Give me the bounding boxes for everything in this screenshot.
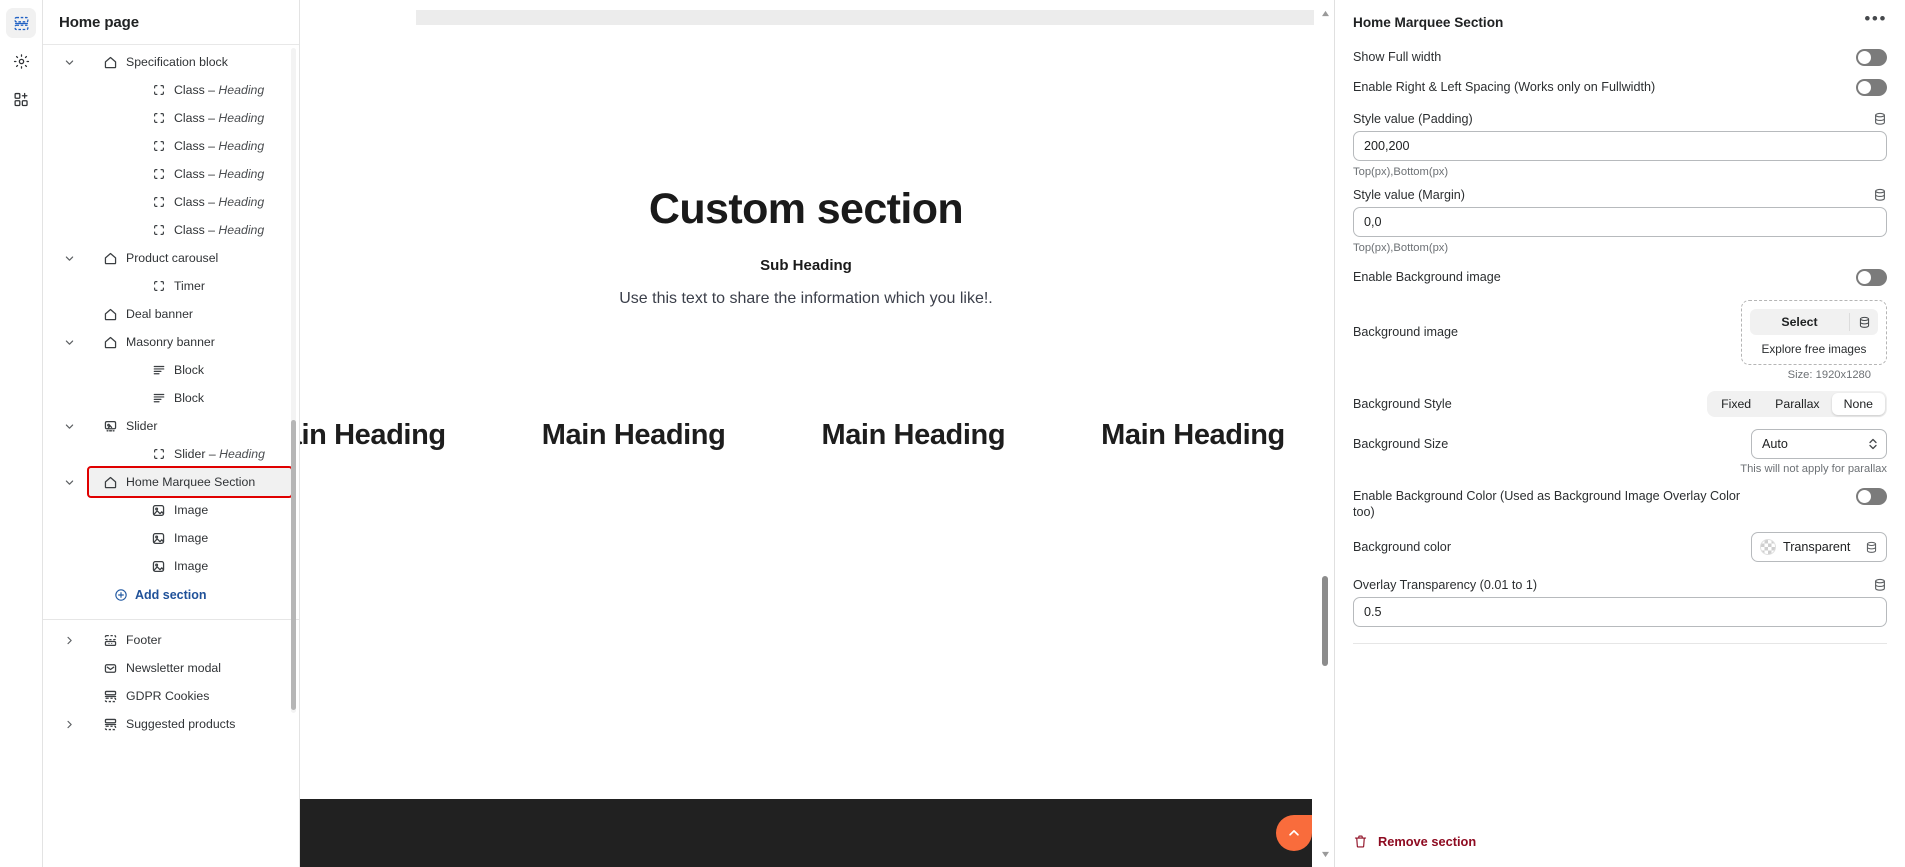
sidebar-item-label: Newsletter modal <box>126 661 221 675</box>
block-frame-icon <box>150 278 167 294</box>
sidebar-item-label: Product carousel <box>126 251 218 265</box>
background-image-dynamic-source-button[interactable] <box>1850 309 1878 335</box>
show-full-width-toggle[interactable] <box>1856 49 1887 66</box>
background-style-segmented-control: FixedParallaxNone <box>1707 391 1887 417</box>
image-icon <box>150 502 167 518</box>
padding-field-head: Style value (Padding) <box>1353 112 1887 126</box>
triangle-up-icon <box>1321 10 1330 17</box>
image-icon <box>150 530 167 546</box>
text-lines-icon <box>152 391 166 405</box>
sidebar-item-class[interactable]: Class – Heading <box>113 76 299 104</box>
background-size-label: Background Size <box>1353 436 1448 452</box>
home-icon <box>103 307 118 322</box>
sidebar-item-label: Image <box>174 503 208 517</box>
rail-app-blocks-button[interactable] <box>6 84 36 114</box>
home-icon <box>102 54 119 70</box>
block-frame-icon <box>152 139 166 153</box>
sidebar-item-label: Image <box>174 559 208 573</box>
hero-subheading: Sub Heading <box>300 257 1312 274</box>
tree-divider <box>43 619 299 620</box>
sidebar-item-masonry-banner[interactable]: Masonry banner <box>89 328 299 356</box>
sections-sidebar: Home page Specification block Class – He… <box>43 0 300 867</box>
background-style-label: Background Style <box>1353 396 1452 412</box>
slideshow-icon <box>103 419 118 434</box>
block-frame-icon <box>150 82 167 98</box>
panel-title: Home Marquee Section <box>1353 15 1503 30</box>
marquee-item: Main Heading <box>494 419 774 452</box>
right-left-spacing-toggle[interactable] <box>1856 79 1887 96</box>
overlay-transparency-label: Overlay Transparency (0.01 to 1) <box>1353 578 1537 592</box>
chevron-updown-icon <box>1868 437 1878 451</box>
tree-caret[interactable] <box>61 250 77 266</box>
transparent-swatch-icon <box>1760 539 1776 555</box>
show-full-width-label: Show Full width <box>1353 48 1453 65</box>
chevron-right-icon <box>64 635 75 646</box>
chevron-down-icon <box>64 421 75 432</box>
background-color-row: Background color Transparent <box>1353 532 1887 562</box>
background-size-value: Auto <box>1762 437 1788 451</box>
settings-gear-icon <box>13 53 30 70</box>
sidebar-item-image[interactable]: Image <box>113 524 299 552</box>
custom-section-hero: Custom section Sub Heading Use this text… <box>300 26 1312 308</box>
text-lines-icon <box>152 363 166 377</box>
sidebar-item-block[interactable]: Block <box>113 356 299 384</box>
sidebar-item-suggested-products[interactable]: Suggested products <box>89 710 299 738</box>
database-icon <box>1873 112 1887 126</box>
home-icon <box>103 55 118 70</box>
padding-hint: Top(px),Bottom(px) <box>1353 166 1887 178</box>
panel-more-menu-button[interactable]: ••• <box>1864 14 1887 30</box>
sidebar-item-label: Class – Heading <box>174 111 264 125</box>
enable-bg-color-row: Enable Background Color (Used as Backgro… <box>1353 481 1887 526</box>
trash-glyph <box>1353 834 1368 849</box>
marquee-item: Main Heading <box>300 419 494 452</box>
tree-caret[interactable] <box>61 716 77 732</box>
background-color-picker[interactable]: Transparent <box>1751 532 1887 562</box>
padding-dynamic-source-button[interactable] <box>1873 112 1887 126</box>
chevron-down-icon <box>64 337 75 348</box>
overlay-transparency-field-head: Overlay Transparency (0.01 to 1) <box>1353 578 1887 592</box>
margin-field-head: Style value (Margin) <box>1353 188 1887 202</box>
block-frame-icon <box>152 195 166 209</box>
app-root: Home page Specification block Class – He… <box>0 0 1905 867</box>
sidebar-item-newsletter-modal[interactable]: Newsletter modal <box>89 654 299 682</box>
sidebar-item-class[interactable]: Class – Heading <box>113 188 299 216</box>
padding-label: Style value (Padding) <box>1353 112 1473 126</box>
section-settings-panel: Home Marquee Section ••• Show Full width… <box>1335 0 1905 867</box>
sidebar-item-label: Home Marquee Section <box>126 475 255 489</box>
sidebar-item-footer[interactable]: Footer <box>89 626 299 654</box>
background-style-option-fixed[interactable]: Fixed <box>1709 393 1763 415</box>
block-frame-icon <box>152 223 166 237</box>
scroll-to-top-button[interactable] <box>1276 815 1312 851</box>
database-icon <box>1858 316 1871 329</box>
toggle-knob <box>1858 81 1871 94</box>
home-icon <box>102 250 119 266</box>
enable-bg-image-label: Enable Background image <box>1353 268 1513 285</box>
hero-title: Custom section <box>300 188 1312 231</box>
sidebar-item-image[interactable]: Image <box>113 496 299 524</box>
panel-divider <box>1353 643 1887 644</box>
right-left-spacing-label: Enable Right & Left Spacing (Works only … <box>1353 78 1667 95</box>
margin-dynamic-source-button[interactable] <box>1873 188 1887 202</box>
add-section-button[interactable]: Add section <box>43 580 299 610</box>
sidebar-item-label: Block <box>174 391 204 405</box>
add-section-label: Add section <box>135 588 207 602</box>
enable-bg-image-row: Enable Background image <box>1353 262 1887 292</box>
tree-caret[interactable] <box>61 632 77 648</box>
section-tree: Specification block Class – Heading Clas… <box>43 45 299 867</box>
enable-bg-color-label: Enable Background Color (Used as Backgro… <box>1353 487 1753 520</box>
sidebar-item-product-carousel[interactable]: Product carousel <box>89 244 299 272</box>
sidebar-item-timer[interactable]: Timer <box>113 272 299 300</box>
scrollbar-up-arrow[interactable] <box>1319 6 1331 20</box>
image-icon <box>150 558 167 574</box>
background-color-value: Transparent <box>1783 540 1858 554</box>
sidebar-item-home-marquee-section[interactable]: Home Marquee Section <box>89 468 291 496</box>
sidebar-scrollbar-thumb[interactable] <box>291 420 296 710</box>
home-icon <box>102 474 119 490</box>
panel-bottom-spacer <box>1335 849 1905 867</box>
sidebar-item-gdpr-cookies[interactable]: GDPR Cookies <box>89 682 299 710</box>
home-icon <box>102 306 119 322</box>
chevron-right-icon <box>64 719 75 730</box>
panel-body: Show Full width Enable Right & Left Spac… <box>1335 42 1905 821</box>
background-image-size-note: Size: 1920x1280 <box>1353 369 1887 381</box>
background-color-dynamic-source-button[interactable] <box>1865 541 1878 554</box>
sidebar-item-label: Masonry banner <box>126 335 215 349</box>
sidebar-item-label: Suggested products <box>126 717 235 731</box>
margin-label: Style value (Margin) <box>1353 188 1465 202</box>
image-icon <box>151 559 166 574</box>
cookie-banner-icon <box>103 717 118 732</box>
cookie-banner-icon <box>103 689 118 704</box>
background-size-select[interactable]: Auto <box>1751 429 1887 459</box>
block-frame-icon <box>150 110 167 126</box>
email-icon <box>102 660 119 676</box>
block-frame-icon <box>152 167 166 181</box>
cookie-banner-icon <box>102 716 119 732</box>
chevron-down-icon <box>64 57 75 68</box>
sidebar-item-slider[interactable]: Slider – Heading <box>113 440 299 468</box>
database-icon <box>1873 188 1887 202</box>
rail-sections-button[interactable] <box>6 8 36 38</box>
home-icon <box>103 335 118 350</box>
sidebar-item-label: Class – Heading <box>174 167 264 181</box>
explore-free-images-link[interactable]: Explore free images <box>1750 342 1878 356</box>
toggle-knob <box>1858 51 1871 64</box>
triangle-down-icon <box>1321 851 1330 858</box>
sections-icon <box>13 15 30 32</box>
home-icon <box>102 334 119 350</box>
background-image-select-group: Select <box>1750 309 1878 335</box>
slideshow-icon <box>102 418 119 434</box>
block-frame-icon <box>150 166 167 182</box>
background-image-dropzone[interactable]: Select Explore free images <box>1741 300 1887 365</box>
sidebar-item-label: Class – Heading <box>174 223 264 237</box>
block-frame-icon <box>152 279 166 293</box>
sidebar-item-label: Specification block <box>126 55 228 69</box>
footer-icon <box>103 633 118 648</box>
plus-circle-glyph <box>114 588 128 602</box>
background-image-row: Background image Select Exp <box>1353 300 1887 365</box>
sidebar-item-class[interactable]: Class – Heading <box>113 216 299 244</box>
sidebar-item-label: Class – Heading <box>174 139 264 153</box>
chevron-updown-glyph <box>1868 437 1878 451</box>
sidebar-item-label: Image <box>174 531 208 545</box>
scrollbar-down-arrow[interactable] <box>1319 847 1331 861</box>
sidebar-item-class[interactable]: Class – Heading <box>113 160 299 188</box>
cookie-banner-icon <box>102 688 119 704</box>
chevron-down-icon <box>64 253 75 264</box>
marquee-item: Main Heading <box>1053 419 1312 452</box>
margin-hint: Top(px),Bottom(px) <box>1353 242 1887 254</box>
sidebar-item-label: Timer <box>174 279 205 293</box>
background-size-row: Background Size Auto <box>1353 429 1887 459</box>
background-image-select-button[interactable]: Select <box>1750 309 1849 335</box>
storefront-preview[interactable]: Custom section Sub Heading Use this text… <box>300 26 1312 867</box>
block-frame-icon <box>150 222 167 238</box>
block-frame-icon <box>150 138 167 154</box>
background-size-hint: This will not apply for parallax <box>1353 463 1887 475</box>
sidebar-item-label: Class – Heading <box>174 195 264 209</box>
chevron-down-icon <box>64 477 75 488</box>
database-icon <box>1873 578 1887 592</box>
margin-input[interactable] <box>1353 207 1887 237</box>
text-lines-icon <box>150 362 167 378</box>
marquee-item: Main Heading <box>773 419 1053 452</box>
home-icon <box>103 251 118 266</box>
sidebar-item-label: GDPR Cookies <box>126 689 209 703</box>
trash-icon <box>1353 834 1368 849</box>
sidebar-item-class[interactable]: Class – Heading <box>113 132 299 160</box>
remove-section-label: Remove section <box>1378 834 1476 849</box>
sidebar-item-label: Slider <box>126 419 157 433</box>
preview-top-notch <box>368 10 416 26</box>
background-style-option-parallax[interactable]: Parallax <box>1763 393 1831 415</box>
overlay-transparency-input[interactable] <box>1353 597 1887 627</box>
sidebar-item-label: Deal banner <box>126 307 193 321</box>
preview-footer-band <box>300 799 1312 867</box>
toggle-knob <box>1858 490 1871 503</box>
background-image-label: Background image <box>1353 324 1463 340</box>
preview-canvas: Custom section Sub Heading Use this text… <box>300 0 1335 867</box>
background-color-label: Background color <box>1353 539 1463 555</box>
background-style-option-none[interactable]: None <box>1832 393 1885 415</box>
sidebar-item-slider[interactable]: Slider <box>89 412 299 440</box>
page-title: Home page <box>59 14 139 31</box>
home-marquee-strip: Main HeadingMain HeadingMain HeadingMain… <box>300 406 1312 464</box>
tree-caret[interactable] <box>61 474 77 490</box>
sidebar-header: Home page <box>43 0 299 45</box>
panel-header: Home Marquee Section ••• <box>1335 0 1905 42</box>
left-icon-rail <box>0 0 43 867</box>
background-style-row: Background Style FixedParallaxNone <box>1353 391 1887 417</box>
remove-section-button[interactable]: Remove section <box>1335 821 1905 849</box>
footer-icon <box>102 632 119 648</box>
sidebar-item-class[interactable]: Class – Heading <box>113 104 299 132</box>
show-full-width-row: Show Full width <box>1353 42 1887 72</box>
email-icon <box>103 661 118 676</box>
block-frame-icon <box>152 111 166 125</box>
tree-caret[interactable] <box>61 54 77 70</box>
hero-body-text: Use this text to share the information w… <box>300 290 1312 308</box>
sidebar-item-block[interactable]: Block <box>113 384 299 412</box>
app-blocks-icon <box>13 91 30 108</box>
block-frame-icon <box>152 447 166 461</box>
block-frame-icon <box>152 83 166 97</box>
home-icon <box>103 475 118 490</box>
sidebar-item-image[interactable]: Image <box>113 552 299 580</box>
rail-settings-button[interactable] <box>6 46 36 76</box>
sidebar-item-label: Footer <box>126 633 162 647</box>
toggle-knob <box>1858 271 1871 284</box>
overlay-transparency-dynamic-source-button[interactable] <box>1873 578 1887 592</box>
sidebar-item-label: Block <box>174 363 204 377</box>
sidebar-item-label: Slider – Heading <box>174 447 265 461</box>
text-lines-icon <box>150 390 167 406</box>
preview-scrollbar-thumb[interactable] <box>1322 576 1328 666</box>
tree-caret[interactable] <box>61 418 77 434</box>
background-size-select-wrap: Auto <box>1751 429 1887 459</box>
plus-circle-icon <box>113 588 128 603</box>
chevron-up-icon <box>1287 826 1301 840</box>
enable-bg-image-toggle[interactable] <box>1856 269 1887 286</box>
right-left-spacing-row: Enable Right & Left Spacing (Works only … <box>1353 72 1887 102</box>
sidebar-item-specification-block[interactable]: Specification block <box>89 48 299 76</box>
database-icon <box>1865 541 1878 554</box>
tree-caret[interactable] <box>61 334 77 350</box>
block-frame-icon <box>150 194 167 210</box>
enable-bg-color-toggle[interactable] <box>1856 488 1887 505</box>
sidebar-item-label: Class – Heading <box>174 83 264 97</box>
preview-scrollbar[interactable] <box>1319 6 1331 861</box>
preview-top-strip <box>368 10 1314 25</box>
image-icon <box>151 503 166 518</box>
block-frame-icon <box>150 446 167 462</box>
padding-input[interactable] <box>1353 131 1887 161</box>
image-icon <box>151 531 166 546</box>
sidebar-item-deal-banner[interactable]: Deal banner <box>89 300 299 328</box>
